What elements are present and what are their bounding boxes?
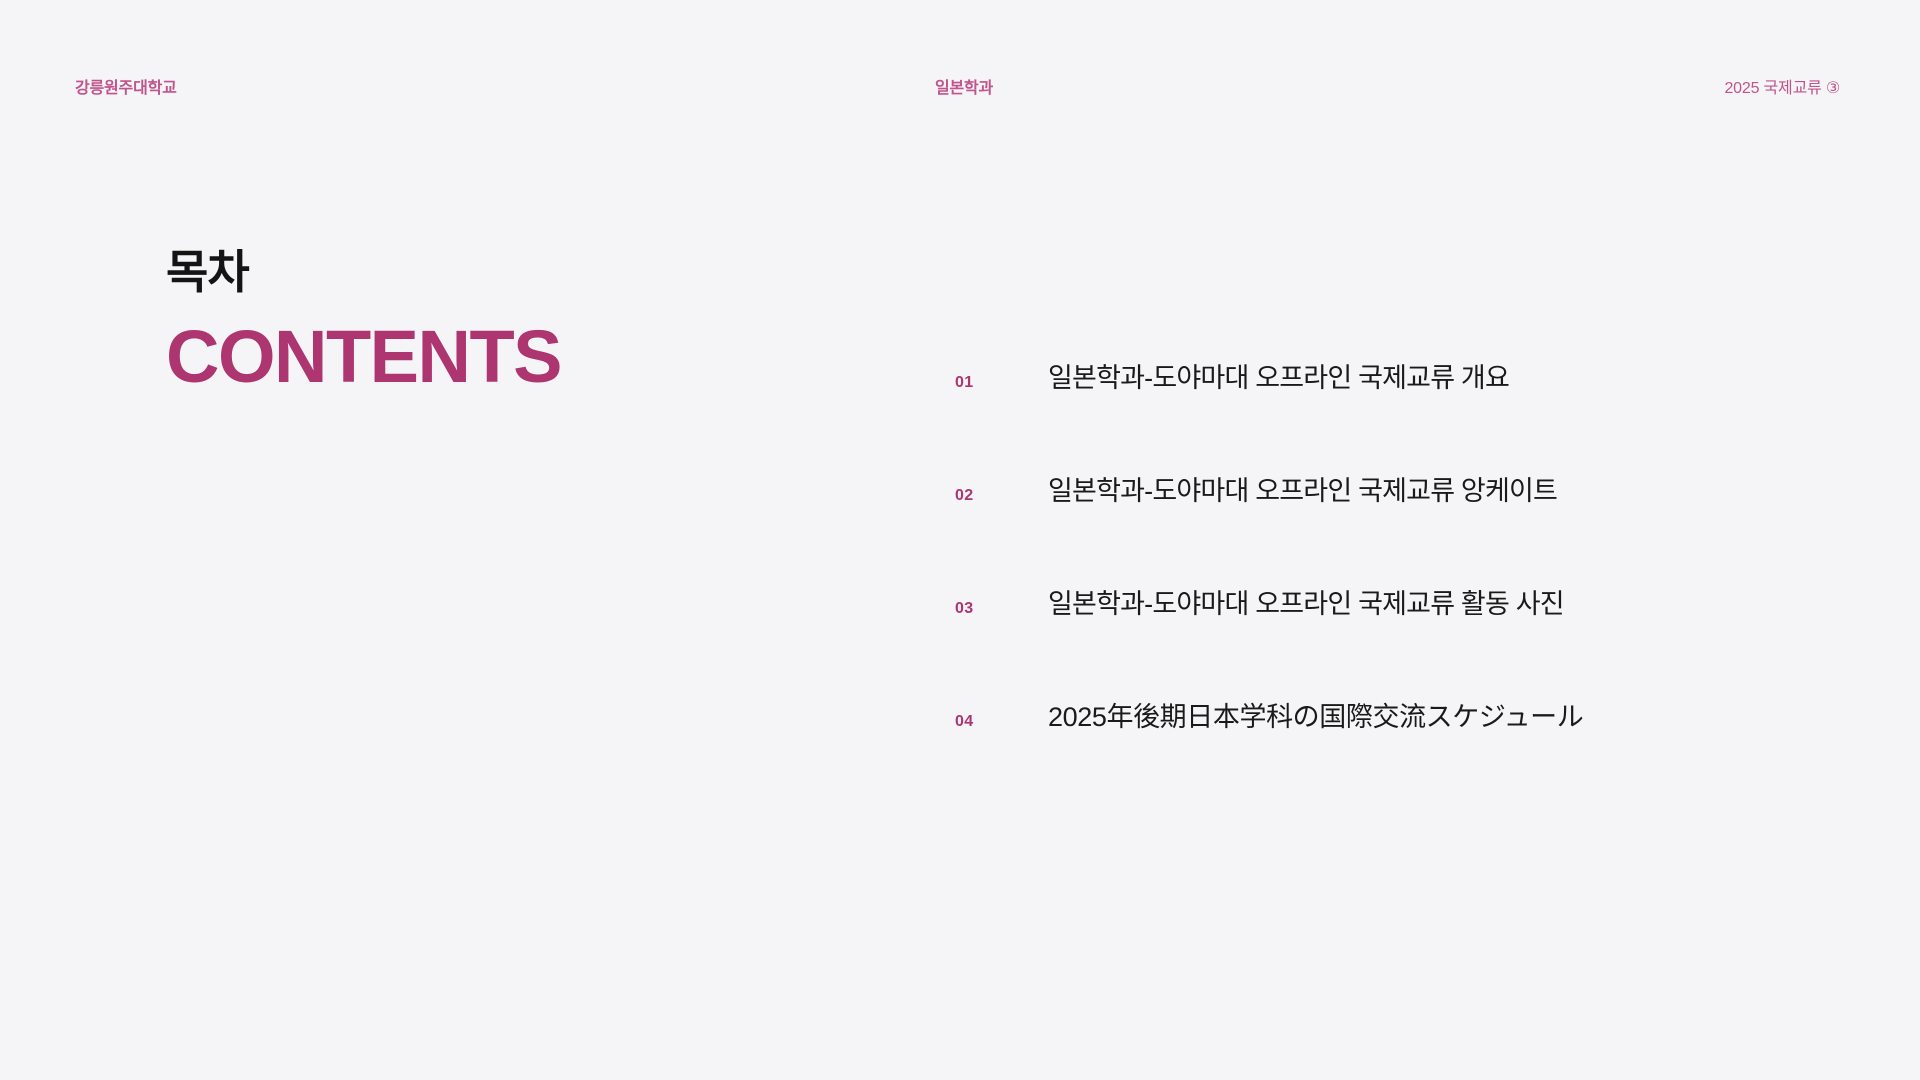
contents-item-02[interactable]: 02 일본학과-도야마대 오프라인 국제교류 앙케이트 xyxy=(955,469,1855,582)
contents-item-number: 03 xyxy=(955,600,1048,618)
contents-item-number: 01 xyxy=(955,374,1048,392)
contents-item-number: 04 xyxy=(955,713,1048,731)
contents-item-label: 2025年後期日本学科の国際交流スケジュール xyxy=(1048,695,1583,734)
header-department-name: 일본학과 xyxy=(935,74,993,98)
contents-item-number: 02 xyxy=(955,487,1048,505)
contents-item-label: 일본학과-도야마대 오프라인 국제교류 활동 사진 xyxy=(1048,582,1564,621)
slide-header: 강릉원주대학교 일본학과 2025 국제교류 ③ xyxy=(0,72,1920,100)
page-title-korean: 목차 xyxy=(166,248,806,296)
page-title-english: CONTENTS xyxy=(166,318,806,396)
header-document-label: 2025 국제교류 ③ xyxy=(1724,74,1840,98)
presentation-slide: 강릉원주대학교 일본학과 2025 국제교류 ③ 목차 CONTENTS 01 … xyxy=(0,0,1920,1080)
title-block: 목차 CONTENTS xyxy=(166,248,806,396)
contents-item-03[interactable]: 03 일본학과-도야마대 오프라인 국제교류 활동 사진 xyxy=(955,582,1855,695)
contents-item-04[interactable]: 04 2025年後期日本学科の国際交流スケジュール xyxy=(955,695,1855,808)
header-university-name: 강릉원주대학교 xyxy=(75,74,177,98)
contents-item-01[interactable]: 01 일본학과-도야마대 오프라인 국제교류 개요 xyxy=(955,356,1855,469)
contents-list: 01 일본학과-도야마대 오프라인 국제교류 개요 02 일본학과-도야마대 오… xyxy=(955,356,1855,808)
contents-item-label: 일본학과-도야마대 오프라인 국제교류 개요 xyxy=(1048,356,1509,395)
contents-item-label: 일본학과-도야마대 오프라인 국제교류 앙케이트 xyxy=(1048,469,1557,508)
